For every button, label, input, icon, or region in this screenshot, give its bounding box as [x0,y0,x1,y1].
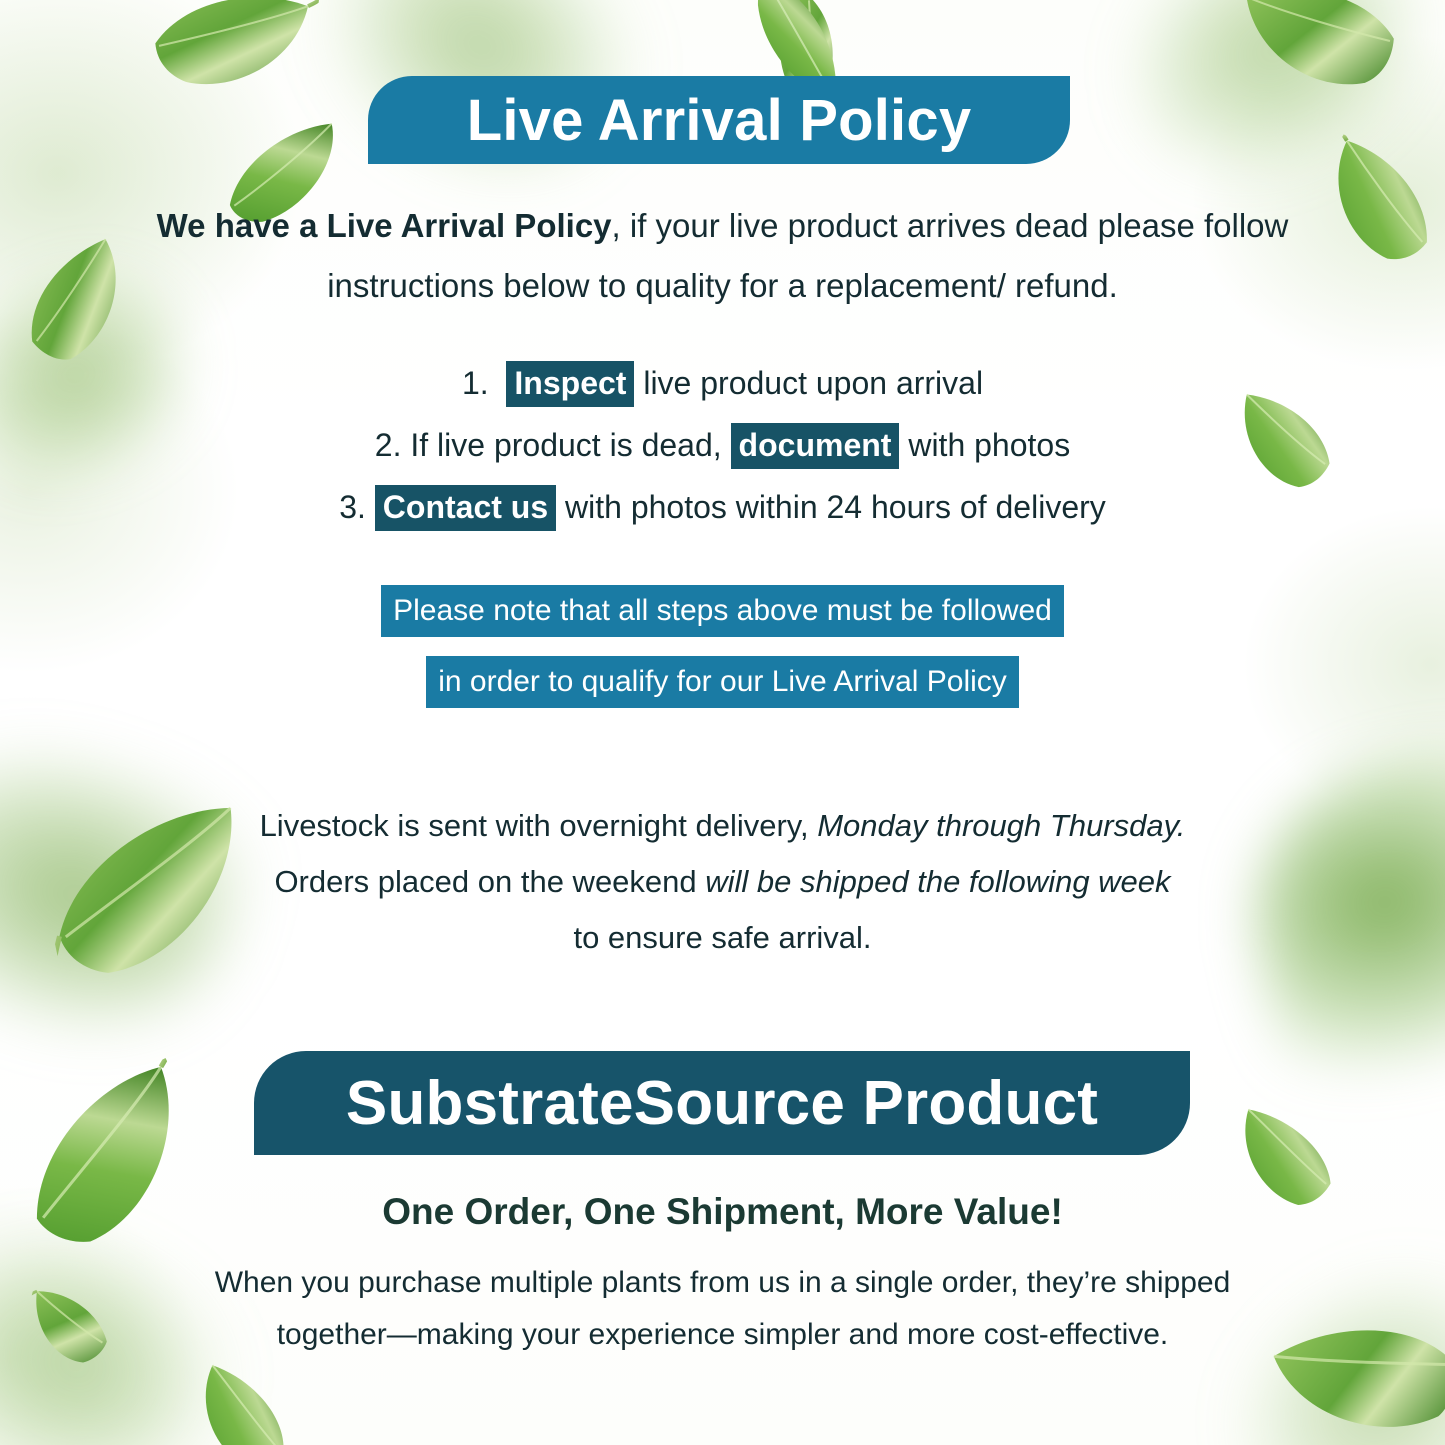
live-arrival-policy-title: Live Arrival Policy [467,87,972,154]
shipping-line-2: Orders placed on the weekend will be shi… [0,854,1445,910]
step-1-highlight: Inspect [506,361,634,407]
shipping-line-2-italic: will be shipped the following week [705,864,1170,899]
shipping-line-2-normal: Orders placed on the weekend [274,864,705,899]
intro-bold-text: We have a Live Arrival Policy [157,207,612,244]
policy-note-line-1: Please note that all steps above must be… [381,585,1064,637]
product-description-line-2: together—making your experience simpler … [0,1309,1445,1361]
shipping-line-1-normal: Livestock is sent with overnight deliver… [260,808,818,843]
value-subheading: One Order, One Shipment, More Value! [0,1191,1445,1233]
steps-list: 1. Inspect live product upon arrival 2. … [0,352,1445,538]
step-item-3: 3. Contact us with photos within 24 hour… [0,476,1445,538]
live-arrival-policy-banner: Live Arrival Policy [368,76,1070,164]
step-2-after: with photos [908,427,1070,463]
substratesource-product-title: SubstrateSource Product [346,1068,1098,1139]
step-2-before: If live product is dead, [410,427,721,463]
step-3-after: with photos within 24 hours of delivery [565,489,1106,525]
substratesource-product-banner: SubstrateSource Product [254,1051,1190,1155]
intro-rest-text: , if your live product arrives dead plea… [612,207,1289,244]
step-1-after: live product upon arrival [643,365,983,401]
step-1-number: 1. [462,365,489,401]
intro-paragraph: We have a Live Arrival Policy, if your l… [0,196,1445,316]
shipping-schedule-paragraph: Livestock is sent with overnight deliver… [0,798,1445,966]
product-description-paragraph: When you purchase multiple plants from u… [0,1257,1445,1361]
step-3-highlight: Contact us [375,485,556,531]
step-3-number: 3. [339,489,366,525]
intro-line-1: We have a Live Arrival Policy, if your l… [150,196,1295,256]
step-item-2: 2. If live product is dead, document wit… [0,414,1445,476]
shipping-line-1: Livestock is sent with overnight deliver… [0,798,1445,854]
step-2-highlight: document [731,423,900,469]
policy-note-block: Please note that all steps above must be… [0,585,1445,727]
product-description-line-1: When you purchase multiple plants from u… [0,1257,1445,1309]
step-item-1: 1. Inspect live product upon arrival [0,352,1445,414]
shipping-line-3: to ensure safe arrival. [0,910,1445,966]
intro-line-2: instructions below to quality for a repl… [150,256,1295,316]
step-2-number: 2. [375,427,402,463]
policy-note-line-2: in order to qualify for our Live Arrival… [426,656,1019,708]
shipping-line-1-italic: Monday through Thursday. [817,808,1185,843]
